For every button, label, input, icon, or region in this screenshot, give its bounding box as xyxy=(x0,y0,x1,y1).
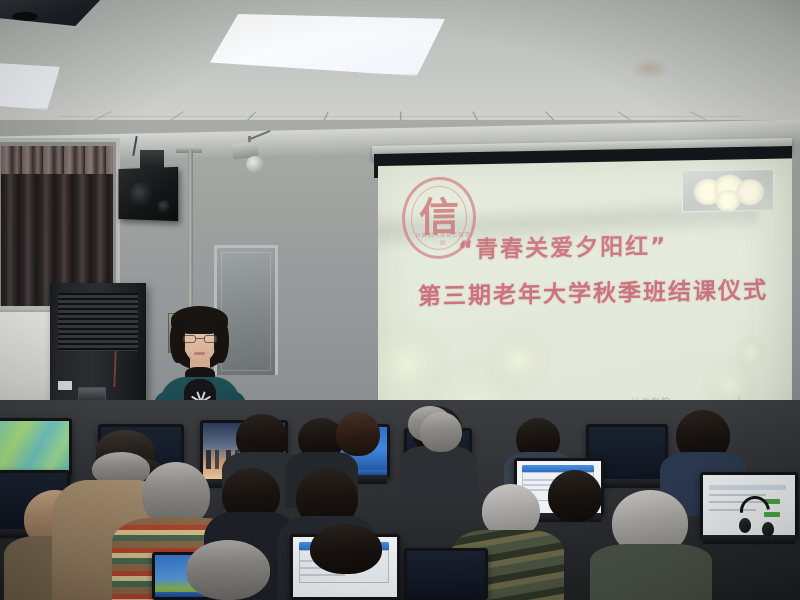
projector-lens-icon xyxy=(12,12,38,21)
speaker-cone-icon xyxy=(129,182,154,208)
cabinet-vent-grille xyxy=(58,293,138,351)
curtain-top-gap xyxy=(1,146,113,174)
presenter-mouth xyxy=(194,352,205,355)
monitor[interactable] xyxy=(404,548,488,600)
headphones xyxy=(740,496,774,536)
slide-title-line2: 第三期老年大学秋季班结课仪式 xyxy=(418,270,792,311)
watermark-flower xyxy=(734,335,768,370)
audience-head xyxy=(420,412,462,452)
monitor-screen xyxy=(0,421,69,473)
audience-head xyxy=(310,524,382,574)
ceiling-stain xyxy=(630,58,670,80)
audience-head xyxy=(336,412,380,456)
watermark-flower xyxy=(482,323,556,398)
monitor-screen xyxy=(407,551,485,597)
monitor[interactable] xyxy=(0,418,72,476)
glasses-bridge xyxy=(196,338,204,339)
slide-flower-photo xyxy=(682,169,774,213)
headphone-cup xyxy=(762,522,774,537)
wall-speaker xyxy=(118,167,178,221)
presenter-glasses xyxy=(183,335,217,343)
classroom-photo: 信 计算机与信息工程学院 “青春关爱夕阳红” 第三期老年大学秋季班结课仪式 计信… xyxy=(0,0,800,600)
headphone-cup xyxy=(739,518,751,533)
wall-conduit xyxy=(188,150,193,320)
glasses-lens-right xyxy=(204,335,217,343)
audience-body xyxy=(400,446,476,504)
audience-head xyxy=(548,470,602,522)
glasses-lens-left xyxy=(183,335,196,343)
cabinet-cord xyxy=(113,351,116,387)
ceiling-light-panel xyxy=(0,60,60,110)
monitor-stand xyxy=(703,535,795,544)
audience-body xyxy=(590,544,712,600)
ceiling-light-panel xyxy=(210,14,445,76)
camera-lens-icon xyxy=(246,156,264,173)
speaker-tweeter-icon xyxy=(158,200,171,214)
audience-head xyxy=(186,540,270,600)
slide-title-line1: “青春关爱夕阳红” xyxy=(458,225,758,264)
cabinet-sticker xyxy=(58,381,72,390)
